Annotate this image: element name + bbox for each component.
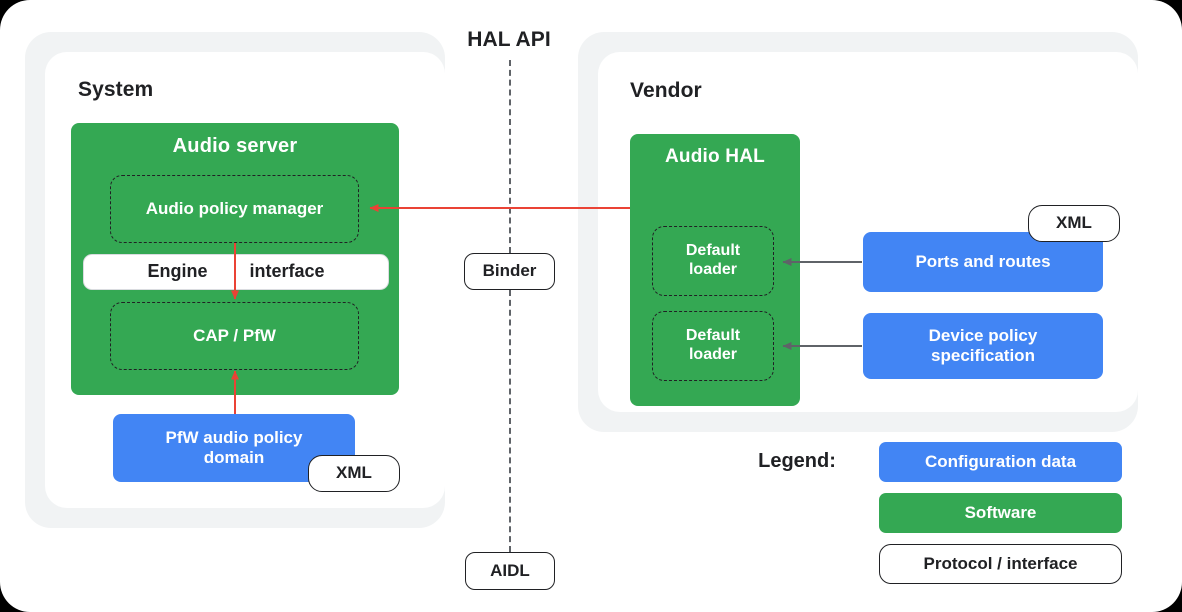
audio-server-title: Audio server bbox=[71, 135, 399, 158]
legend-item-protocol-interface: Protocol / interface bbox=[879, 544, 1122, 584]
legend-label: Legend: bbox=[742, 448, 852, 476]
vendor-title: Vendor bbox=[630, 79, 830, 107]
legend-item-configuration-data: Configuration data bbox=[879, 442, 1122, 482]
binder-badge: Binder bbox=[464, 253, 555, 290]
device-policy-line-2: specification bbox=[931, 346, 1035, 366]
legend-item-configuration-data-label: Configuration data bbox=[925, 452, 1076, 472]
engine-interface-bar: Engine interface bbox=[83, 254, 389, 290]
engine-interface-right-label: interface bbox=[249, 261, 324, 282]
device-policy-line-1: Device policy bbox=[929, 326, 1038, 346]
audio-hal-title: Audio HAL bbox=[630, 146, 800, 168]
default-loader-1-line-2: loader bbox=[689, 261, 737, 280]
default-loader-2-line-2: loader bbox=[689, 346, 737, 365]
hal-api-title: HAL API bbox=[439, 26, 579, 54]
default-loader-block-2: Default loader bbox=[652, 311, 774, 381]
device-policy-specification-block: Device policy specification bbox=[863, 313, 1103, 379]
xml-badge-system: XML bbox=[308, 455, 400, 492]
hal-api-divider-line-upper bbox=[509, 60, 511, 253]
hal-api-divider-line-lower bbox=[509, 290, 511, 552]
cap-pfw-block: CAP / PfW bbox=[110, 302, 359, 370]
legend-item-software-label: Software bbox=[965, 503, 1037, 523]
default-loader-block-1: Default loader bbox=[652, 226, 774, 296]
system-title: System bbox=[78, 78, 278, 106]
pfw-line-2: domain bbox=[204, 448, 264, 468]
legend-item-protocol-interface-label: Protocol / interface bbox=[924, 554, 1078, 574]
default-loader-2-line-1: Default bbox=[686, 327, 740, 346]
aidl-badge: AIDL bbox=[465, 552, 555, 590]
audio-policy-manager-block: Audio policy manager bbox=[110, 175, 359, 243]
legend-item-software: Software bbox=[879, 493, 1122, 533]
ports-and-routes-label: Ports and routes bbox=[915, 252, 1050, 272]
default-loader-1-line-1: Default bbox=[686, 242, 740, 261]
diagram-canvas: System Audio server Audio policy manager… bbox=[0, 0, 1182, 612]
xml-badge-vendor: XML bbox=[1028, 205, 1120, 242]
pfw-line-1: PfW audio policy bbox=[166, 428, 303, 448]
engine-interface-left-label: Engine bbox=[147, 261, 207, 282]
